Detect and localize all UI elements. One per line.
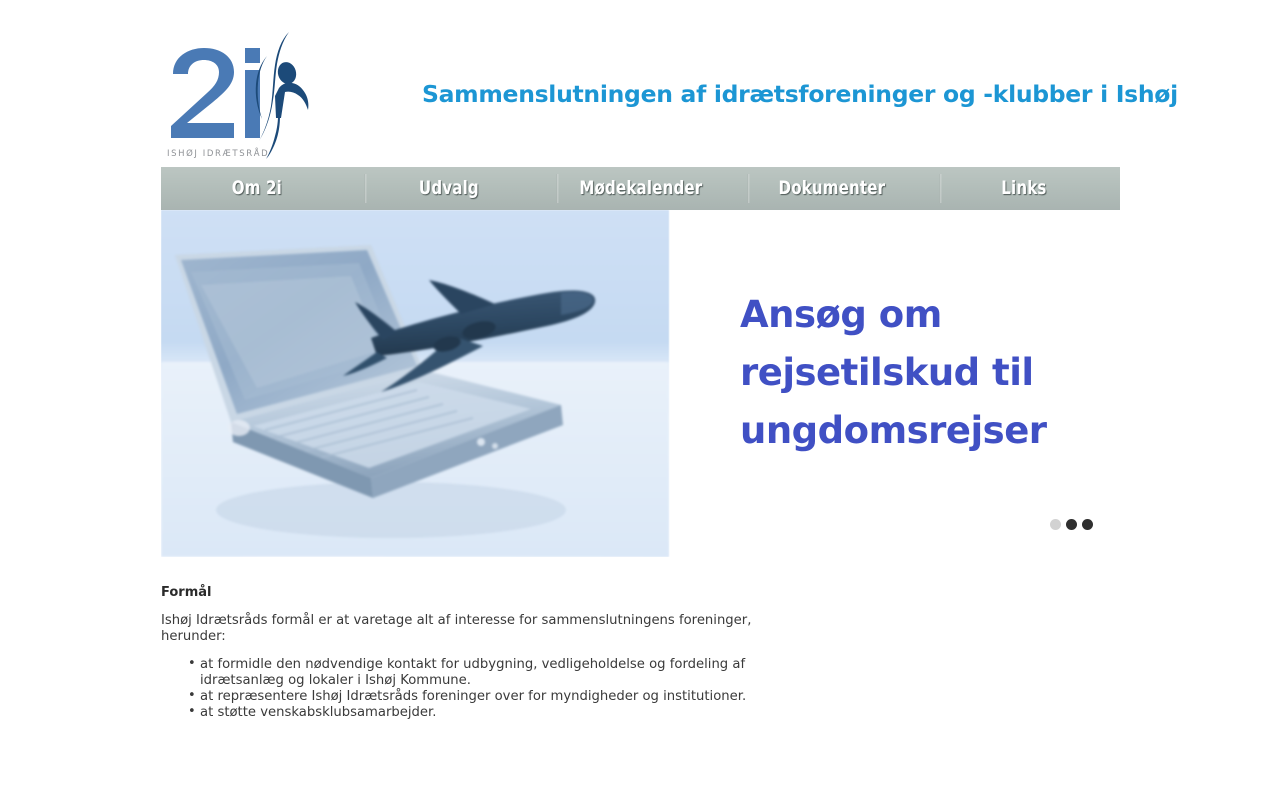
main-navigation: Om 2i Udvalg Mødekalender Dokumenter Lin…: [161, 167, 1120, 210]
site-header: ISHØJ IDRÆTSRÅD Sammenslutningen af idræ…: [161, 0, 1120, 167]
main-content: Formål Ishøj Idrætsråds formål er at var…: [161, 585, 1120, 721]
purpose-list: at formidle den nødvendige kontakt for u…: [161, 657, 767, 721]
logo-icon: ISHØJ IDRÆTSRÅD: [161, 26, 311, 166]
list-item: at støtte venskabsklubsamarbejder.: [161, 705, 767, 721]
hero-headline-line-3: ungdomsrejser: [740, 402, 1100, 460]
nav-item-udvalg[interactable]: Udvalg: [364, 167, 533, 210]
carousel-dots: [1050, 519, 1093, 530]
list-item: at formidle den nødvendige kontakt for u…: [161, 657, 767, 689]
carousel-dot-3[interactable]: [1082, 519, 1093, 530]
carousel-dot-1[interactable]: [1050, 519, 1061, 530]
hero-headline-line-2: rejsetilskud til: [740, 344, 1100, 402]
content-heading: Formål: [161, 585, 1120, 601]
athlete-figure-icon: [256, 32, 309, 159]
nav-item-links[interactable]: Links: [940, 167, 1109, 210]
nav-item-moedekalender[interactable]: Mødekalender: [556, 167, 725, 210]
content-intro-paragraph: Ishøj Idrætsråds formål er at varetage a…: [161, 613, 767, 645]
carousel-dot-2[interactable]: [1066, 519, 1077, 530]
site-logo[interactable]: ISHØJ IDRÆTSRÅD: [161, 26, 311, 166]
hero-headline: Ansøg om rejsetilskud til ungdomsrejser: [740, 286, 1100, 460]
nav-item-dokumenter[interactable]: Dokumenter: [748, 167, 917, 210]
nav-item-om-2i[interactable]: Om 2i: [173, 167, 342, 210]
hero-headline-line-1: Ansøg om: [740, 286, 1100, 344]
site-tagline: Sammenslutningen af idrætsforeninger og …: [422, 80, 1122, 108]
list-item: at repræsentere Ishøj Idrætsråds forenin…: [161, 689, 767, 705]
logo-letter-i-dot: [245, 48, 260, 63]
page-root: ISHØJ IDRÆTSRÅD Sammenslutningen af idræ…: [0, 0, 1280, 800]
laptop-airplane-illustration: [161, 210, 669, 557]
hero-image-laptop-with-airplane[interactable]: [161, 210, 669, 557]
logo-subtitle: ISHØJ IDRÆTSRÅD: [167, 147, 269, 159]
hero-banner: Ansøg om rejsetilskud til ungdomsrejser: [161, 210, 1120, 557]
logo-digit-two: [171, 48, 234, 138]
